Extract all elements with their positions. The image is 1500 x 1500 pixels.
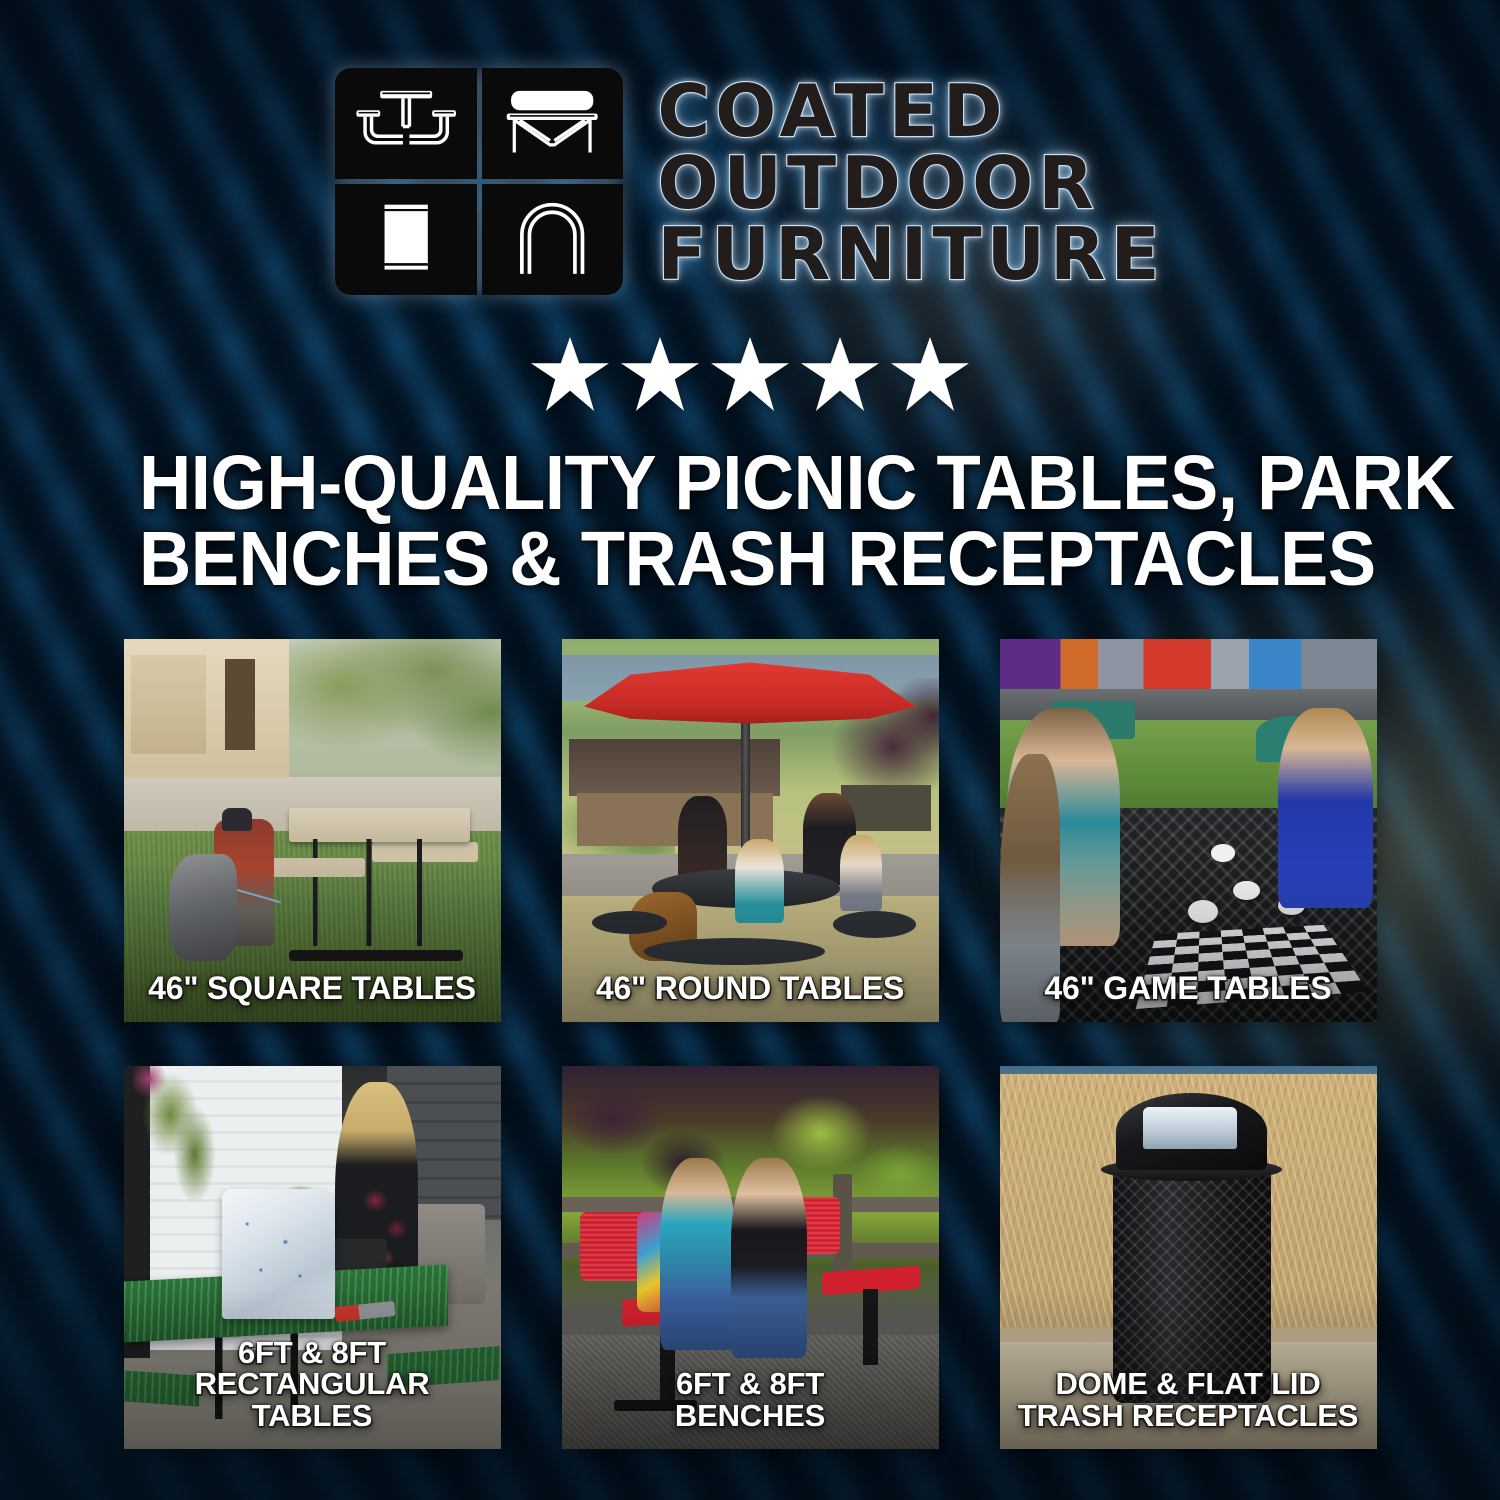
trash-receptacle-icon — [335, 184, 477, 295]
brand-line-coated: COATED — [657, 78, 1164, 146]
brand-logo-row: COATED OUTDOOR FURNITURE — [335, 68, 1164, 295]
tile-caption-line: 46" ROUND TABLES — [572, 972, 929, 1005]
star-icon — [621, 337, 699, 411]
tile-caption: 46" GAME TABLES — [1000, 972, 1377, 1023]
headline-line-1: HIGH-QUALITY PICNIC TABLES, PARK — [139, 445, 1361, 521]
category-tile-trash-receptacles[interactable]: DOME & FLAT LID TRASH RECEPTACLES — [1000, 1066, 1377, 1449]
tile-caption-line: RECTANGULAR TABLES — [134, 1368, 491, 1431]
tile-caption: 6FT & 8FT BENCHES — [562, 1368, 939, 1449]
tile-caption-line: 6FT & 8FT — [572, 1368, 929, 1400]
tile-caption-line: 46" SQUARE TABLES — [134, 972, 491, 1005]
category-tile-rectangular-tables[interactable]: 6FT & 8FT RECTANGULAR TABLES — [124, 1066, 501, 1449]
photo-square-tables — [124, 639, 501, 1022]
headline-line-2: BENCHES & TRASH RECEPTACLES — [139, 521, 1361, 597]
page-title: HIGH-QUALITY PICNIC TABLES, PARK BENCHES… — [139, 445, 1361, 597]
picnic-table-icon — [335, 68, 477, 179]
star-rating — [531, 337, 969, 411]
tile-caption-line: 6FT & 8FT — [134, 1337, 491, 1369]
tile-caption: 46" ROUND TABLES — [562, 972, 939, 1023]
bike-rack-arch-icon — [482, 184, 624, 295]
star-icon — [531, 337, 609, 411]
tile-caption-line: BENCHES — [572, 1400, 929, 1432]
logo-icon-grid — [335, 68, 623, 295]
star-icon — [891, 337, 969, 411]
star-icon — [801, 337, 879, 411]
promotional-poster: COATED OUTDOOR FURNITURE HIGH-QUALITY PI… — [0, 0, 1500, 1500]
tile-caption-line: 46" GAME TABLES — [1010, 972, 1367, 1005]
category-tile-benches[interactable]: 6FT & 8FT BENCHES — [562, 1066, 939, 1449]
brand-wordmark: COATED OUTDOOR FURNITURE — [657, 74, 1164, 289]
brand-line-outdoor: OUTDOOR — [657, 150, 1164, 218]
brand-line-furniture: FURNITURE — [657, 221, 1164, 289]
tile-caption: DOME & FLAT LID TRASH RECEPTACLES — [1000, 1368, 1377, 1449]
tile-caption: 6FT & 8FT RECTANGULAR TABLES — [124, 1337, 501, 1450]
tile-caption-line: TRASH RECEPTACLES — [1010, 1400, 1367, 1432]
category-tile-square-tables[interactable]: 46" SQUARE TABLES — [124, 639, 501, 1022]
tile-caption-line: DOME & FLAT LID — [1010, 1368, 1367, 1400]
star-icon — [711, 337, 789, 411]
photo-round-tables — [562, 639, 939, 1022]
photo-game-tables — [1000, 639, 1377, 1022]
category-tile-game-tables[interactable]: 46" GAME TABLES — [1000, 639, 1377, 1022]
tile-caption: 46" SQUARE TABLES — [124, 972, 501, 1023]
park-bench-icon — [482, 68, 624, 179]
category-tile-round-tables[interactable]: 46" ROUND TABLES — [562, 639, 939, 1022]
product-category-grid: 46" SQUARE TABLES 46" ROUND TABLES — [124, 639, 1377, 1449]
